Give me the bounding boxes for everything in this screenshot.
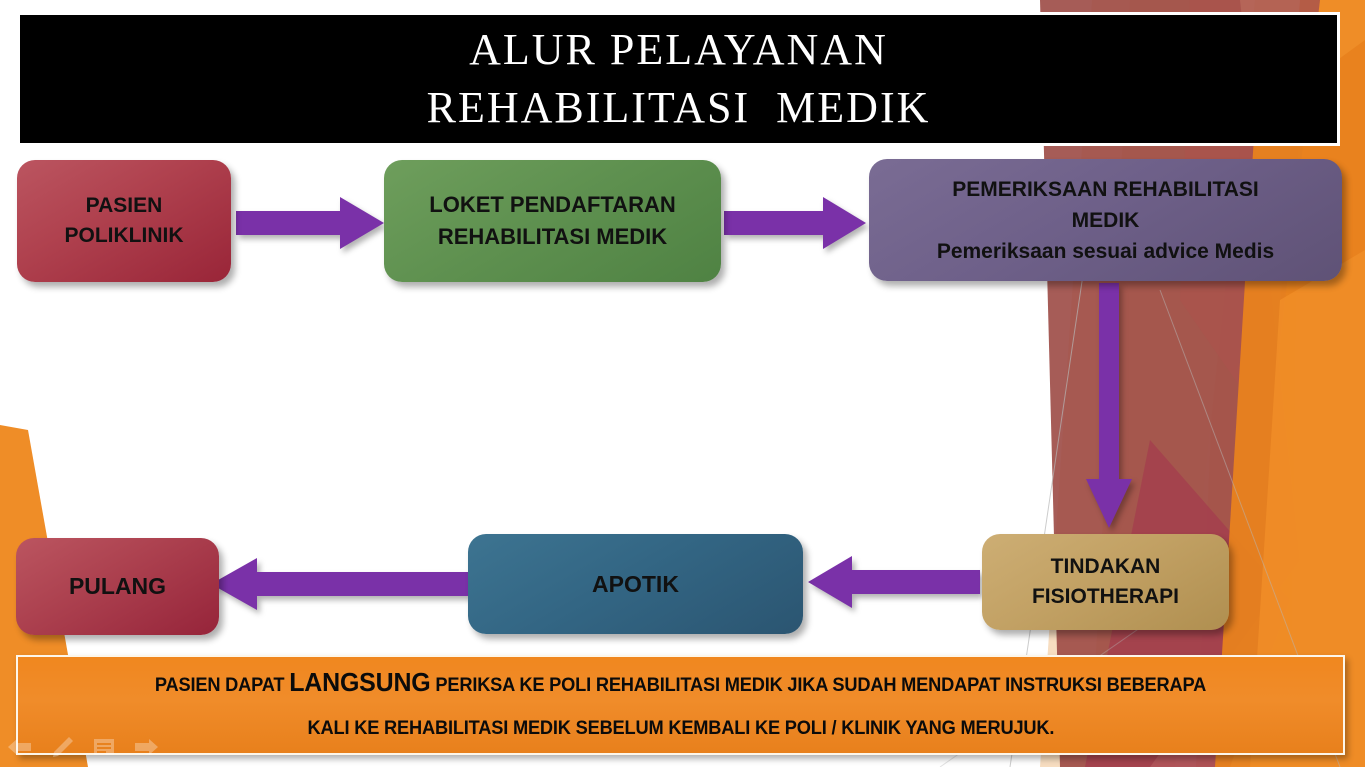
arrow-pemeriksaan-to-tindakan — [1086, 283, 1132, 528]
node-pasien-line-1: PASIEN — [86, 191, 163, 221]
slide-title-banner: ALUR PELAYANAN REHABILITASI MEDIK — [17, 12, 1340, 146]
footer-note-post: PERIKSA KE POLI REHABILITASI MEDIK JIKA … — [431, 675, 1207, 696]
arrow-pasien-to-loket — [236, 197, 384, 249]
node-tindakan-fisiotherapi[interactable]: TINDAKAN FISIOTHERAPI — [982, 534, 1229, 630]
node-loket-line-1: LOKET PENDAFTARAN — [429, 189, 675, 221]
title-line-1: ALUR PELAYANAN — [469, 21, 888, 79]
node-pasien-line-2: POLIKLINIK — [65, 221, 184, 251]
next-slide-icon[interactable] — [134, 736, 158, 758]
footer-note-emphasis: LANGSUNG — [289, 667, 430, 697]
footer-note-line-2: KALI KE REHABILITASI MEDIK SEBELUM KEMBA… — [307, 707, 1054, 750]
node-loket-pendaftaran[interactable]: LOKET PENDAFTARAN REHABILITASI MEDIK — [384, 160, 721, 282]
previous-slide-icon[interactable] — [8, 736, 32, 758]
node-pemeriksaan-line-2: MEDIK — [1072, 205, 1140, 236]
presentation-slide: ALUR PELAYANAN REHABILITASI MEDIK PASIEN… — [0, 0, 1365, 767]
node-pemeriksaan-rehabilitasi-medik[interactable]: PEMERIKSAAN REHABILITASI MEDIK Pemeriksa… — [869, 159, 1342, 281]
arrow-tindakan-to-apotik — [808, 556, 980, 608]
node-pulang-label: PULANG — [69, 573, 166, 600]
node-pemeriksaan-subtitle: Pemeriksaan sesuai advice Medis — [937, 236, 1274, 267]
node-tindakan-line-1: TINDAKAN — [1051, 552, 1161, 582]
notes-icon[interactable] — [92, 736, 116, 758]
title-line-2: REHABILITASI MEDIK — [427, 79, 931, 137]
node-apotik-label: APOTIK — [592, 571, 679, 598]
arrow-loket-to-pemeriksaan — [724, 197, 866, 249]
footer-note-banner: PASIEN DAPAT LANGSUNG PERIKSA KE POLI RE… — [16, 655, 1345, 755]
node-apotik[interactable]: APOTIK — [468, 534, 803, 634]
footer-note-pre: PASIEN DAPAT — [155, 675, 289, 696]
footer-note-line-1: PASIEN DAPAT LANGSUNG PERIKSA KE POLI RE… — [155, 661, 1206, 707]
node-pulang[interactable]: PULANG — [16, 538, 219, 635]
node-pasien-poliklinik[interactable]: PASIEN POLIKLINIK — [17, 160, 231, 282]
node-pemeriksaan-line-1: PEMERIKSAAN REHABILITASI — [952, 174, 1258, 205]
presentation-controls[interactable] — [8, 736, 158, 758]
pen-tool-icon[interactable] — [50, 736, 74, 758]
arrow-apotik-to-pulang — [211, 558, 473, 610]
node-loket-line-2: REHABILITASI MEDIK — [438, 221, 667, 253]
node-tindakan-line-2: FISIOTHERAPI — [1032, 582, 1179, 612]
